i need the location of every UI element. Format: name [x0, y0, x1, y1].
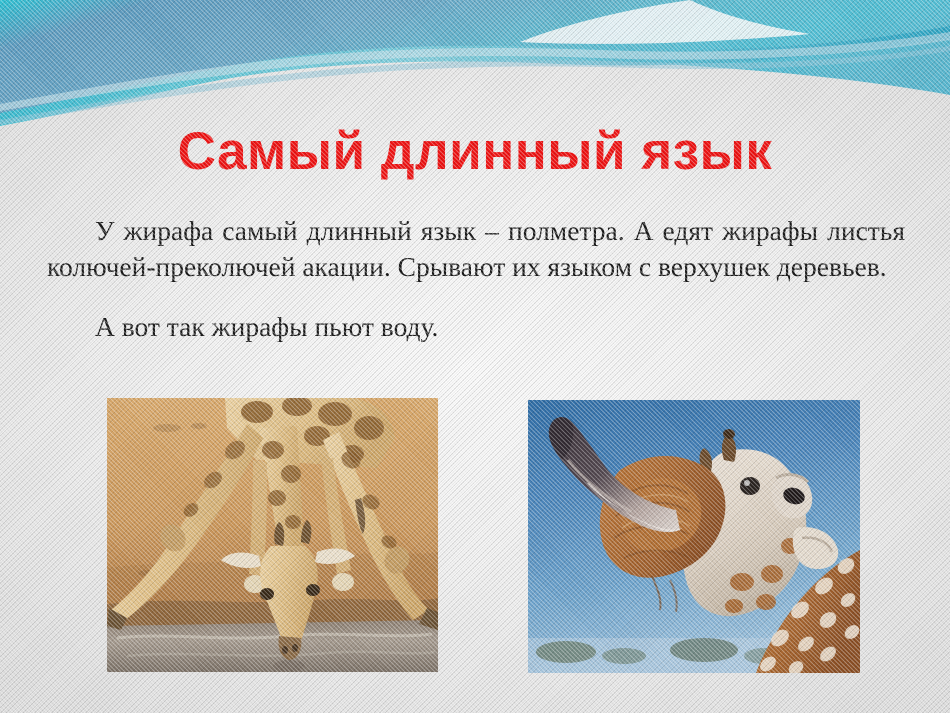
- giraffe-tongue-photo: [528, 400, 860, 673]
- top-wave-decoration: [0, 0, 950, 130]
- giraffe-drinking-water-photo: [107, 398, 438, 672]
- paragraph-1: У жирафа самый длинный язык – полметра. …: [47, 213, 905, 285]
- page-title: Самый длинный язык: [0, 124, 950, 180]
- presentation-slide: Самый длинный язык У жирафа самый длинны…: [0, 0, 950, 713]
- body-text-block: У жирафа самый длинный язык – полметра. …: [47, 213, 905, 344]
- paragraph-2: А вот так жирафы пьют воду.: [47, 309, 905, 345]
